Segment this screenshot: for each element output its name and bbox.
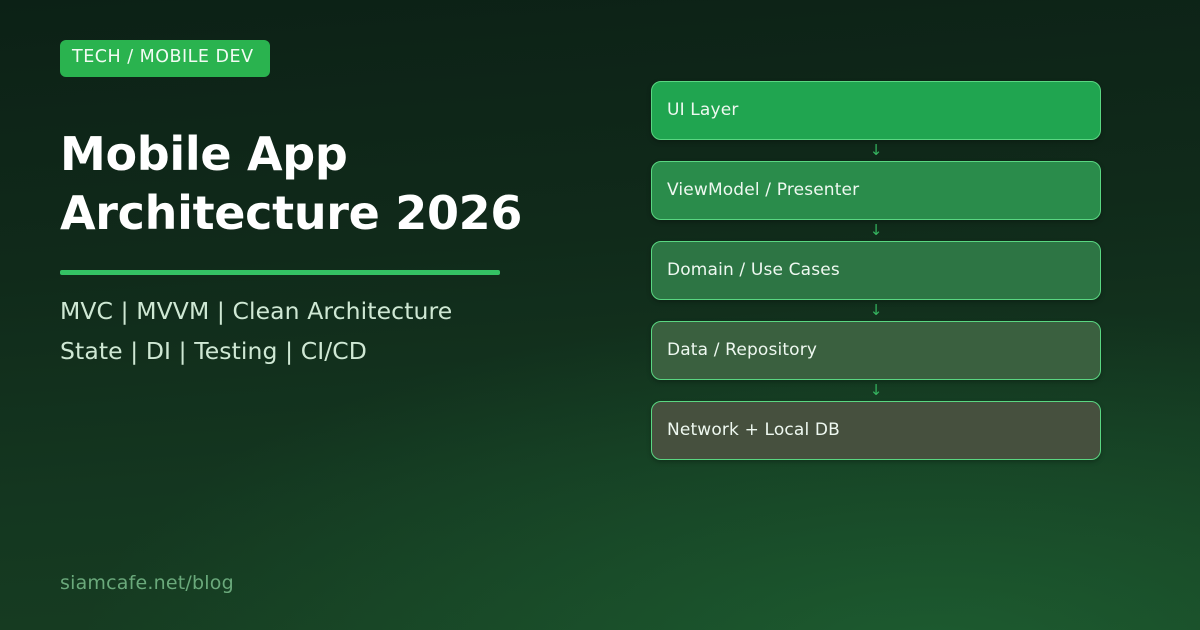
arrow-down-icon: ↓ [651, 380, 1101, 401]
left-content-column: TECH / MOBILE DEV Mobile App Architectur… [60, 40, 580, 372]
architecture-layer-box: UI Layer [651, 81, 1101, 140]
poster-canvas: TECH / MOBILE DEV Mobile App Architectur… [0, 0, 1200, 630]
page-subtitle-line-2: State | DI | Testing | CI/CD [60, 332, 580, 372]
architecture-layer-label: ViewModel / Presenter [667, 182, 859, 199]
architecture-layer-box: Domain / Use Cases [651, 241, 1101, 300]
architecture-stack-diagram: UI Layer↓ViewModel / Presenter↓Domain / … [651, 81, 1101, 460]
page-title-line-1: Mobile App [60, 125, 530, 185]
architecture-layer-box: Data / Repository [651, 321, 1101, 380]
page-title: Mobile App Architecture 2026 [60, 125, 530, 245]
architecture-layer-label: UI Layer [667, 102, 738, 119]
page-title-line-2: Architecture 2026 [60, 184, 530, 244]
footer-url: siamcafe.net/blog [60, 572, 234, 594]
arrow-down-icon: ↓ [651, 300, 1101, 321]
page-subtitle: MVC | MVVM | Clean Architecture State | … [60, 292, 580, 372]
architecture-layer-box: Network + Local DB [651, 401, 1101, 460]
architecture-layer-label: Data / Repository [667, 342, 817, 359]
arrow-down-icon: ↓ [651, 140, 1101, 161]
page-subtitle-line-1: MVC | MVVM | Clean Architecture [60, 292, 580, 332]
architecture-layer-label: Domain / Use Cases [667, 262, 840, 279]
architecture-layer-label: Network + Local DB [667, 422, 840, 439]
architecture-layer-box: ViewModel / Presenter [651, 161, 1101, 220]
arrow-down-icon: ↓ [651, 220, 1101, 241]
category-badge: TECH / MOBILE DEV [60, 40, 270, 77]
accent-divider [60, 270, 500, 275]
